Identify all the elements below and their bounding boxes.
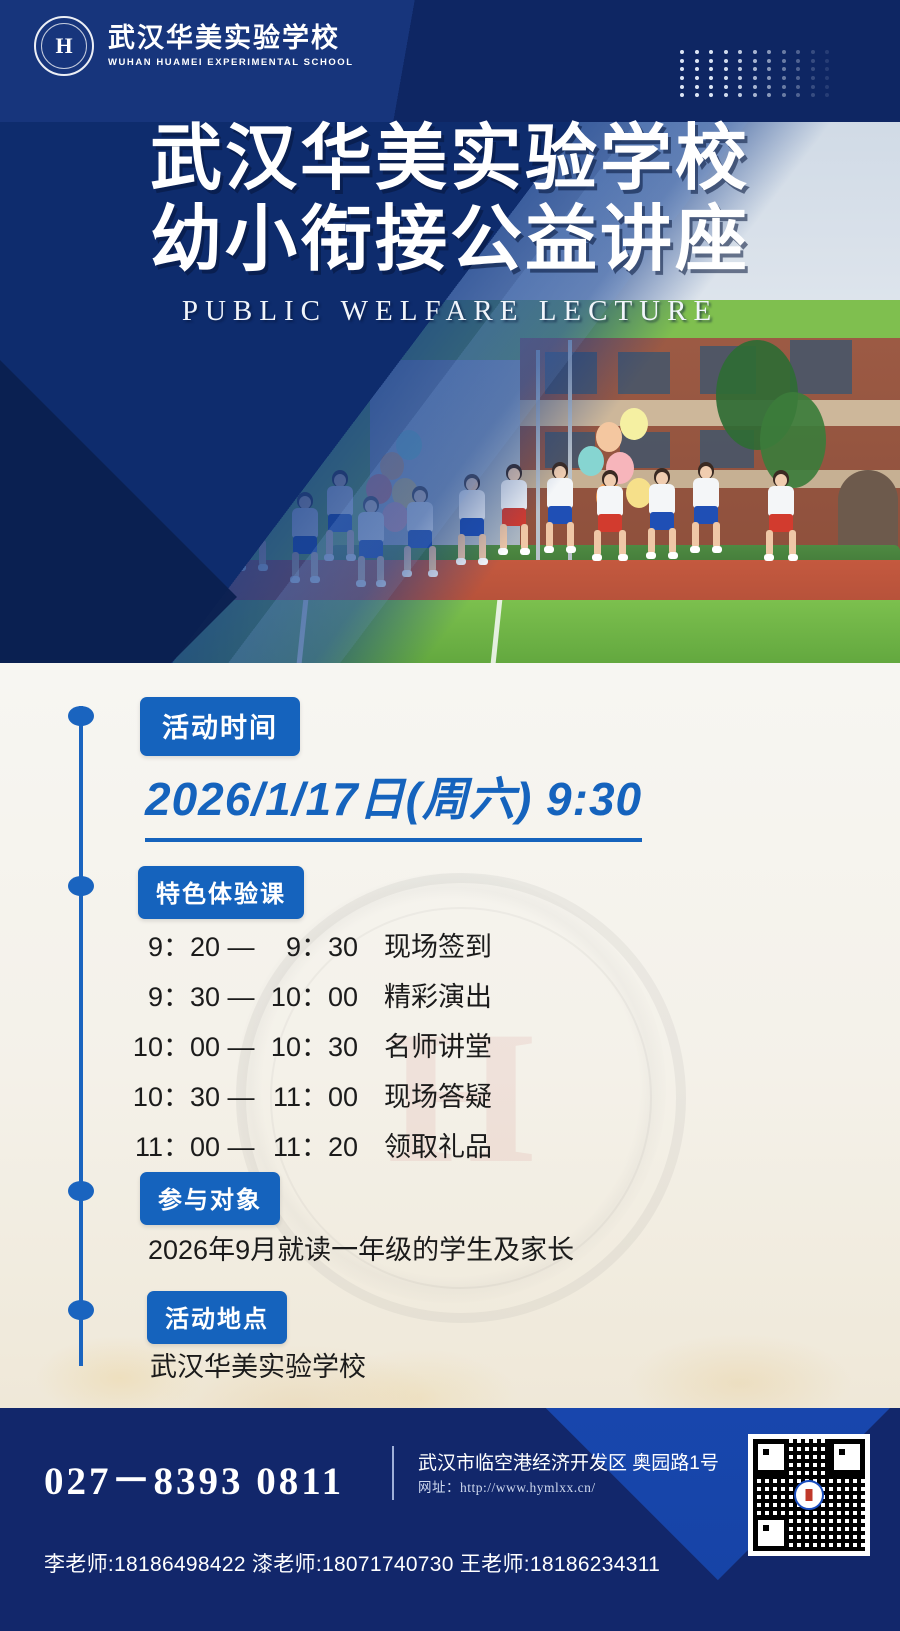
schedule-end: 11：20 bbox=[262, 1125, 358, 1164]
qr-code-pattern bbox=[753, 1439, 865, 1551]
headline-line-2: 幼小衔接公益讲座 bbox=[0, 199, 900, 280]
footer-teacher-contacts: 李老师:18186498422 漆老师:18071740730 王老师:1818… bbox=[44, 1548, 660, 1578]
footer-website: 网址：http://www.hymlxx.cn/ bbox=[418, 1476, 596, 1496]
schedule-activity: 现场答疑 bbox=[384, 1075, 492, 1114]
qr-finder-icon bbox=[829, 1439, 865, 1475]
schedule-end: 10：30 bbox=[262, 1025, 358, 1064]
schedule-dash: — bbox=[220, 1132, 262, 1163]
footer-phone: 027－8393 0811 bbox=[44, 1450, 344, 1506]
schedule-dash: — bbox=[220, 1082, 262, 1113]
background-texture bbox=[0, 1148, 900, 1408]
audience-value: 2026年9月就读一年级的学生及家长 bbox=[148, 1228, 574, 1267]
school-name-cn: 武汉华美实验学校 bbox=[108, 24, 354, 54]
schedule-activity: 领取礼品 bbox=[384, 1125, 492, 1164]
timeline-dot bbox=[68, 876, 94, 896]
venue-value: 武汉华美实验学校 bbox=[150, 1345, 366, 1384]
dot-grid-decoration bbox=[680, 50, 840, 102]
timeline-dot bbox=[68, 1181, 94, 1201]
schedule-dash: — bbox=[220, 932, 262, 963]
badge-venue: 活动地点 bbox=[147, 1291, 287, 1344]
schedule-row: 10：30 — 11：00 现场答疑 bbox=[128, 1075, 558, 1114]
qr-code[interactable] bbox=[748, 1434, 870, 1556]
schedule-start: 10：00 bbox=[128, 1025, 220, 1064]
poster-root: H 武汉华美实验学校 WUHAN HUAMEI EXPERIMENTAL SCH… bbox=[0, 0, 900, 1631]
schedule-end: 10：00 bbox=[262, 975, 358, 1014]
hero-section: H 武汉华美实验学校 WUHAN HUAMEI EXPERIMENTAL SCH… bbox=[0, 0, 900, 663]
hero-headline: 武汉华美实验学校 幼小衔接公益讲座 PUBLIC WELFARE LECTURE bbox=[0, 118, 900, 328]
schedule-activity: 现场签到 bbox=[384, 925, 492, 964]
school-logo: H 武汉华美实验学校 WUHAN HUAMEI EXPERIMENTAL SCH… bbox=[34, 16, 354, 76]
badge-event-time: 活动时间 bbox=[140, 697, 300, 756]
event-date-value: 2026/1/17日(周六) 9:30 bbox=[145, 763, 642, 842]
schedule-start: 10：30 bbox=[128, 1075, 220, 1114]
schedule-end: 9：30 bbox=[262, 925, 358, 964]
schedule-end: 11：00 bbox=[262, 1075, 358, 1114]
qr-finder-icon bbox=[753, 1515, 789, 1551]
schedule-row: 10：00 — 10：30 名师讲堂 bbox=[128, 1025, 558, 1064]
footer-address: 武汉市临空港经济开发区 奥园路1号 bbox=[418, 1448, 719, 1475]
school-name-block: 武汉华美实验学校 WUHAN HUAMEI EXPERIMENTAL SCHOO… bbox=[108, 24, 354, 68]
badge-featured-course: 特色体验课 bbox=[138, 866, 304, 919]
schedule-activity: 名师讲堂 bbox=[384, 1025, 492, 1064]
timeline-dot bbox=[68, 706, 94, 726]
headline-subtitle-en: PUBLIC WELFARE LECTURE bbox=[0, 295, 900, 328]
timeline-rail bbox=[79, 706, 83, 1366]
school-name-en: WUHAN HUAMEI EXPERIMENTAL SCHOOL bbox=[108, 57, 354, 68]
schedule-row: 11：00 — 11：20 领取礼品 bbox=[128, 1125, 558, 1164]
qr-center-logo-icon bbox=[794, 1480, 824, 1510]
footer-divider bbox=[392, 1446, 394, 1500]
schedule-dash: — bbox=[220, 1032, 262, 1063]
schedule-dash: — bbox=[220, 982, 262, 1013]
schedule-row: 9：20 — 9：30 现场签到 bbox=[128, 925, 558, 964]
qr-finder-icon bbox=[753, 1439, 789, 1475]
timeline-dot bbox=[68, 1300, 94, 1320]
schedule-start: 9：30 bbox=[128, 975, 220, 1014]
badge-audience: 参与对象 bbox=[140, 1172, 280, 1225]
headline-line-1: 武汉华美实验学校 bbox=[0, 118, 900, 199]
schedule-activity: 精彩演出 bbox=[384, 975, 492, 1014]
schedule-row: 9：30 — 10：00 精彩演出 bbox=[128, 975, 558, 1014]
schedule-start: 11：00 bbox=[128, 1125, 220, 1164]
school-seal-icon: H bbox=[34, 16, 94, 76]
schedule-list: 9：20 — 9：30 现场签到 9：30 — 10：00 精彩演出 10：00… bbox=[128, 925, 558, 1175]
seal-monogram: H bbox=[55, 33, 72, 59]
schedule-start: 9：20 bbox=[128, 925, 220, 964]
